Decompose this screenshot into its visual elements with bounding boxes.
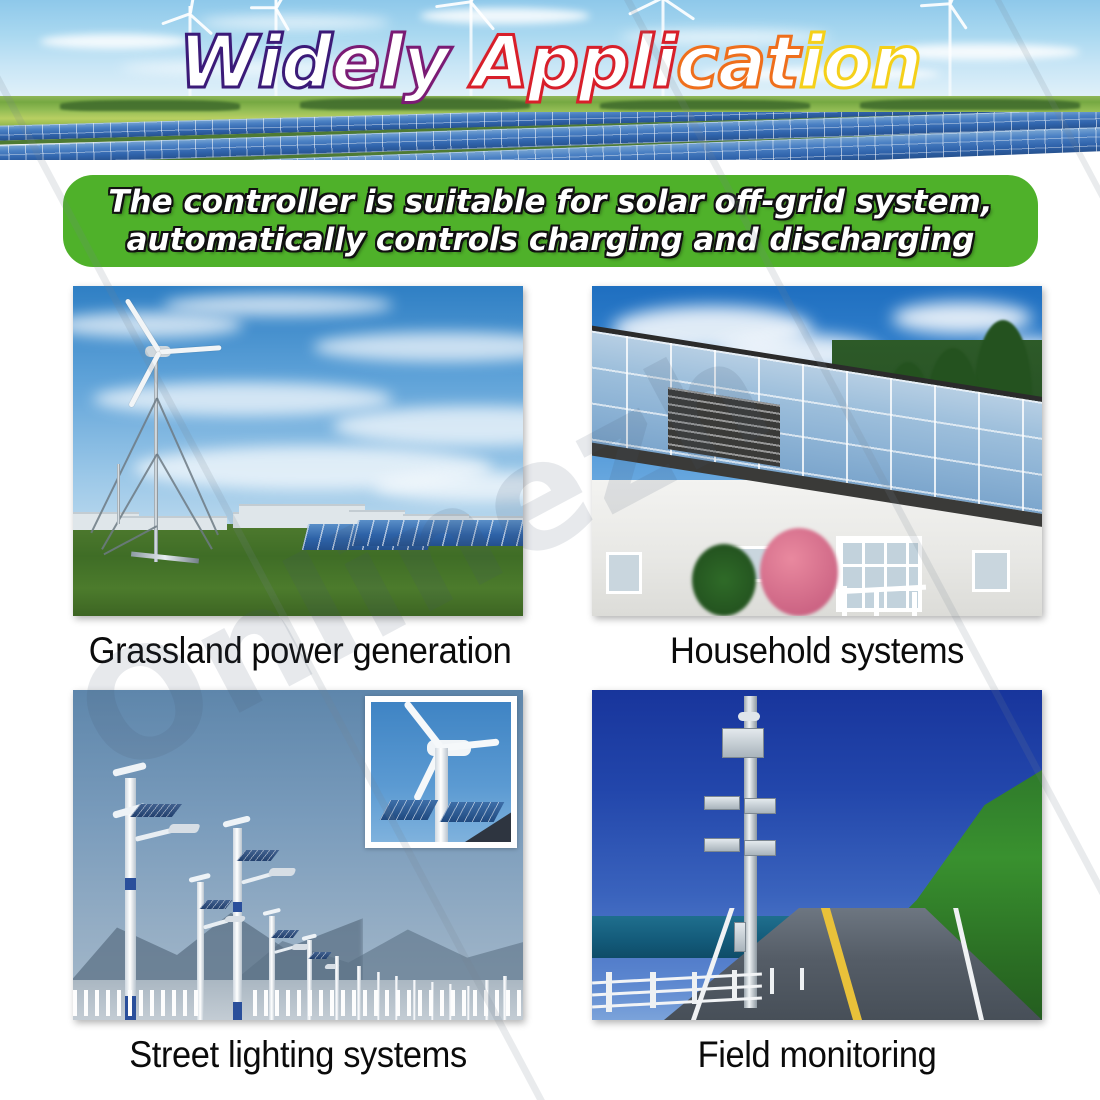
rail-post <box>692 972 697 1004</box>
widely-application-page: Widely Application The controller is sui… <box>0 0 1100 1100</box>
banner-line-1: The controller is suitable for solar off… <box>108 183 992 221</box>
sensor-enclosure <box>722 728 764 758</box>
french-door <box>836 536 922 612</box>
flood-light <box>704 838 740 852</box>
window <box>972 550 1010 592</box>
railing-post <box>874 590 879 616</box>
flowering-shrub <box>760 528 838 616</box>
rail-post <box>606 972 612 1012</box>
card-caption: Household systems <box>608 630 1027 672</box>
cloud-icon <box>163 294 393 316</box>
application-row: Grassland power generation <box>0 286 1100 690</box>
field-monitoring-photo <box>592 690 1042 1020</box>
railing-post <box>912 592 917 616</box>
title-segment: Wid <box>179 20 332 104</box>
title-segment: cat <box>676 20 799 104</box>
rail-post <box>800 968 804 990</box>
turbine-closeup-inset <box>365 696 517 848</box>
street-lighting-photo <box>73 690 523 1020</box>
application-grid: Grassland power generation <box>0 286 1100 1094</box>
flood-light <box>704 796 740 810</box>
antenna-mast <box>748 696 751 716</box>
title-segment: ion <box>799 20 921 104</box>
application-row: Street lighting systems <box>0 690 1100 1094</box>
page-title: Widely Application <box>0 26 1100 98</box>
card-caption: Street lighting systems <box>89 1034 508 1076</box>
shrub <box>692 544 756 616</box>
guard-fence <box>253 990 523 1016</box>
application-card-grassland[interactable]: Grassland power generation <box>73 286 523 672</box>
application-card-field-monitoring[interactable]: Field monitoring <box>592 690 1042 1076</box>
title-segment: ely <box>331 20 473 104</box>
rail-post <box>732 970 737 1000</box>
grassland-power-photo <box>73 286 523 616</box>
rail-post <box>650 972 656 1008</box>
flood-light <box>744 798 776 814</box>
application-card-street-lighting[interactable]: Street lighting systems <box>73 690 523 1076</box>
description-banner: The controller is suitable for solar off… <box>63 175 1038 267</box>
application-card-household[interactable]: Household systems <box>592 286 1042 672</box>
title-segment: Appli <box>473 20 676 104</box>
header-banner: Widely Application <box>0 0 1100 160</box>
window <box>606 552 642 594</box>
solar-array <box>456 520 523 546</box>
guard-fence <box>73 990 203 1016</box>
anchor-post <box>117 464 120 524</box>
household-systems-photo <box>592 286 1042 616</box>
banner-line-2: automatically controls charging and disc… <box>127 221 975 259</box>
header-solar-array <box>0 112 1100 160</box>
card-caption: Grassland power generation <box>89 630 508 672</box>
equipment-cabinet <box>734 922 746 952</box>
rail-post <box>770 968 774 994</box>
flood-light <box>744 840 776 856</box>
card-caption: Field monitoring <box>608 1034 1027 1076</box>
